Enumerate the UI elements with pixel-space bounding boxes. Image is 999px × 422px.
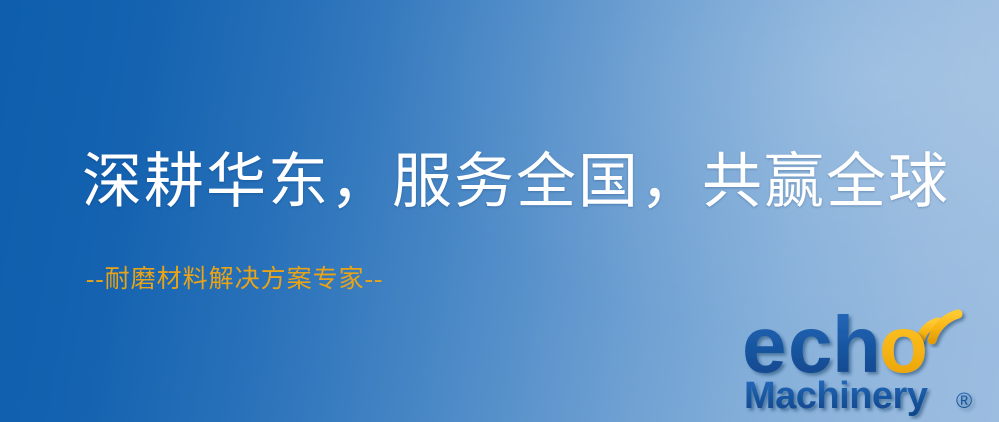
company-logo[interactable]: e c h o Machinery ®: [742, 296, 994, 420]
logo-tagline: Machinery: [744, 375, 928, 417]
registered-trademark-icon: ®: [956, 388, 972, 413]
echo-machinery-logo-graphic: e c h o Machinery ®: [742, 296, 994, 420]
hero-banner: 深耕华东，服务全国，共赢全球 --耐磨材料解决方案专家--: [0, 0, 999, 422]
page-subtitle: --耐磨材料解决方案专家--: [86, 267, 383, 292]
page-title: 深耕华东，服务全国，共赢全球: [82, 152, 950, 212]
